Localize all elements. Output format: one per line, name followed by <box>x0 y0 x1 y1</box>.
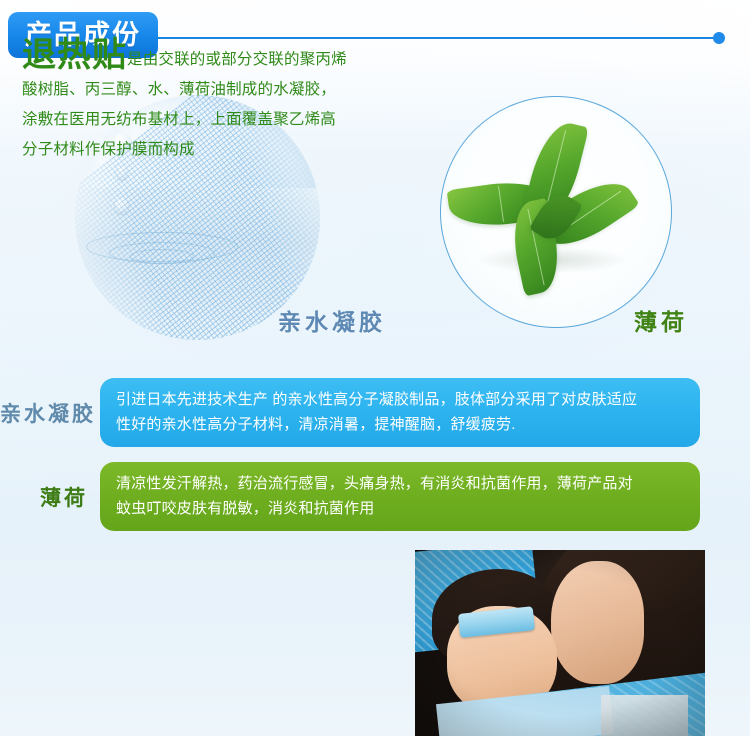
info-text-line: 性好的亲水性高分子材料，清凉消暑，提神醒脑，舒缓疲劳. <box>116 412 684 437</box>
product-description-line-3: 涂敷在医用无纺布基材上，上面覆盖聚乙烯高 <box>22 111 336 128</box>
product-description-text: 退热贴是由交联的或部分交联的聚丙烯 酸树脂、丙三醇、水、薄荷油制成的水凝胶， 涂… <box>22 40 402 165</box>
mint-image <box>440 96 672 328</box>
mother-and-child-photo <box>415 550 705 736</box>
info-row-hydrophilic-gel: 亲水凝胶 引进日本先进技术生产 的亲水性高分子凝胶制品，肢体部分采用了对皮肤适应… <box>0 378 728 447</box>
photo-vignette <box>415 550 705 736</box>
product-description-block: 退热贴是由交联的或部分交联的聚丙烯 酸树脂、丙三醇、水、薄荷油制成的水凝胶， 涂… <box>22 40 402 165</box>
info-text-line: 蚊虫叮咬皮肤有脱敏，消炎和抗菌作用 <box>116 496 684 521</box>
mint-caption: 薄荷 <box>634 303 688 337</box>
header-end-dot-icon <box>713 32 725 44</box>
info-bubble-hydrophilic-gel: 引进日本先进技术生产 的亲水性高分子凝胶制品，肢体部分采用了对皮肤适应 性好的亲… <box>100 378 700 447</box>
info-text-line: 引进日本先进技术生产 的亲水性高分子凝胶制品，肢体部分采用了对皮肤适应 <box>116 387 684 412</box>
info-label-mint: 薄荷 <box>0 482 100 512</box>
info-text-line: 清凉性发汗解热，药治流行感冒，头痛身热，有消炎和抗菌作用，薄荷产品对 <box>116 471 684 496</box>
info-row-mint: 薄荷 清凉性发汗解热，药治流行感冒，头痛身热，有消炎和抗菌作用，薄荷产品对 蚊虫… <box>0 462 728 531</box>
leaf-vein <box>498 186 504 221</box>
hydrophilic-gel-caption: 亲水凝胶 <box>278 303 386 337</box>
product-description-line-4: 分子材料作保护膜而构成 <box>22 141 195 158</box>
product-name-title: 退热贴 <box>22 36 127 74</box>
product-ingredients-page: 产品成份 亲水凝胶 薄荷 亲水凝胶 引进日本先进技术生产 的亲水性高分子凝胶制品… <box>0 0 750 736</box>
info-label-hydrophilic-gel: 亲水凝胶 <box>0 398 100 428</box>
product-description-line-1: 是由交联的或部分交联的聚丙烯 <box>127 51 347 68</box>
header-divider-line <box>130 37 720 39</box>
product-description-line-2: 酸树脂、丙三醇、水、薄荷油制成的水凝胶， <box>22 81 336 98</box>
info-bubble-mint: 清凉性发汗解热，药治流行感冒，头痛身热，有消炎和抗菌作用，薄荷产品对 蚊虫叮咬皮… <box>100 462 700 531</box>
